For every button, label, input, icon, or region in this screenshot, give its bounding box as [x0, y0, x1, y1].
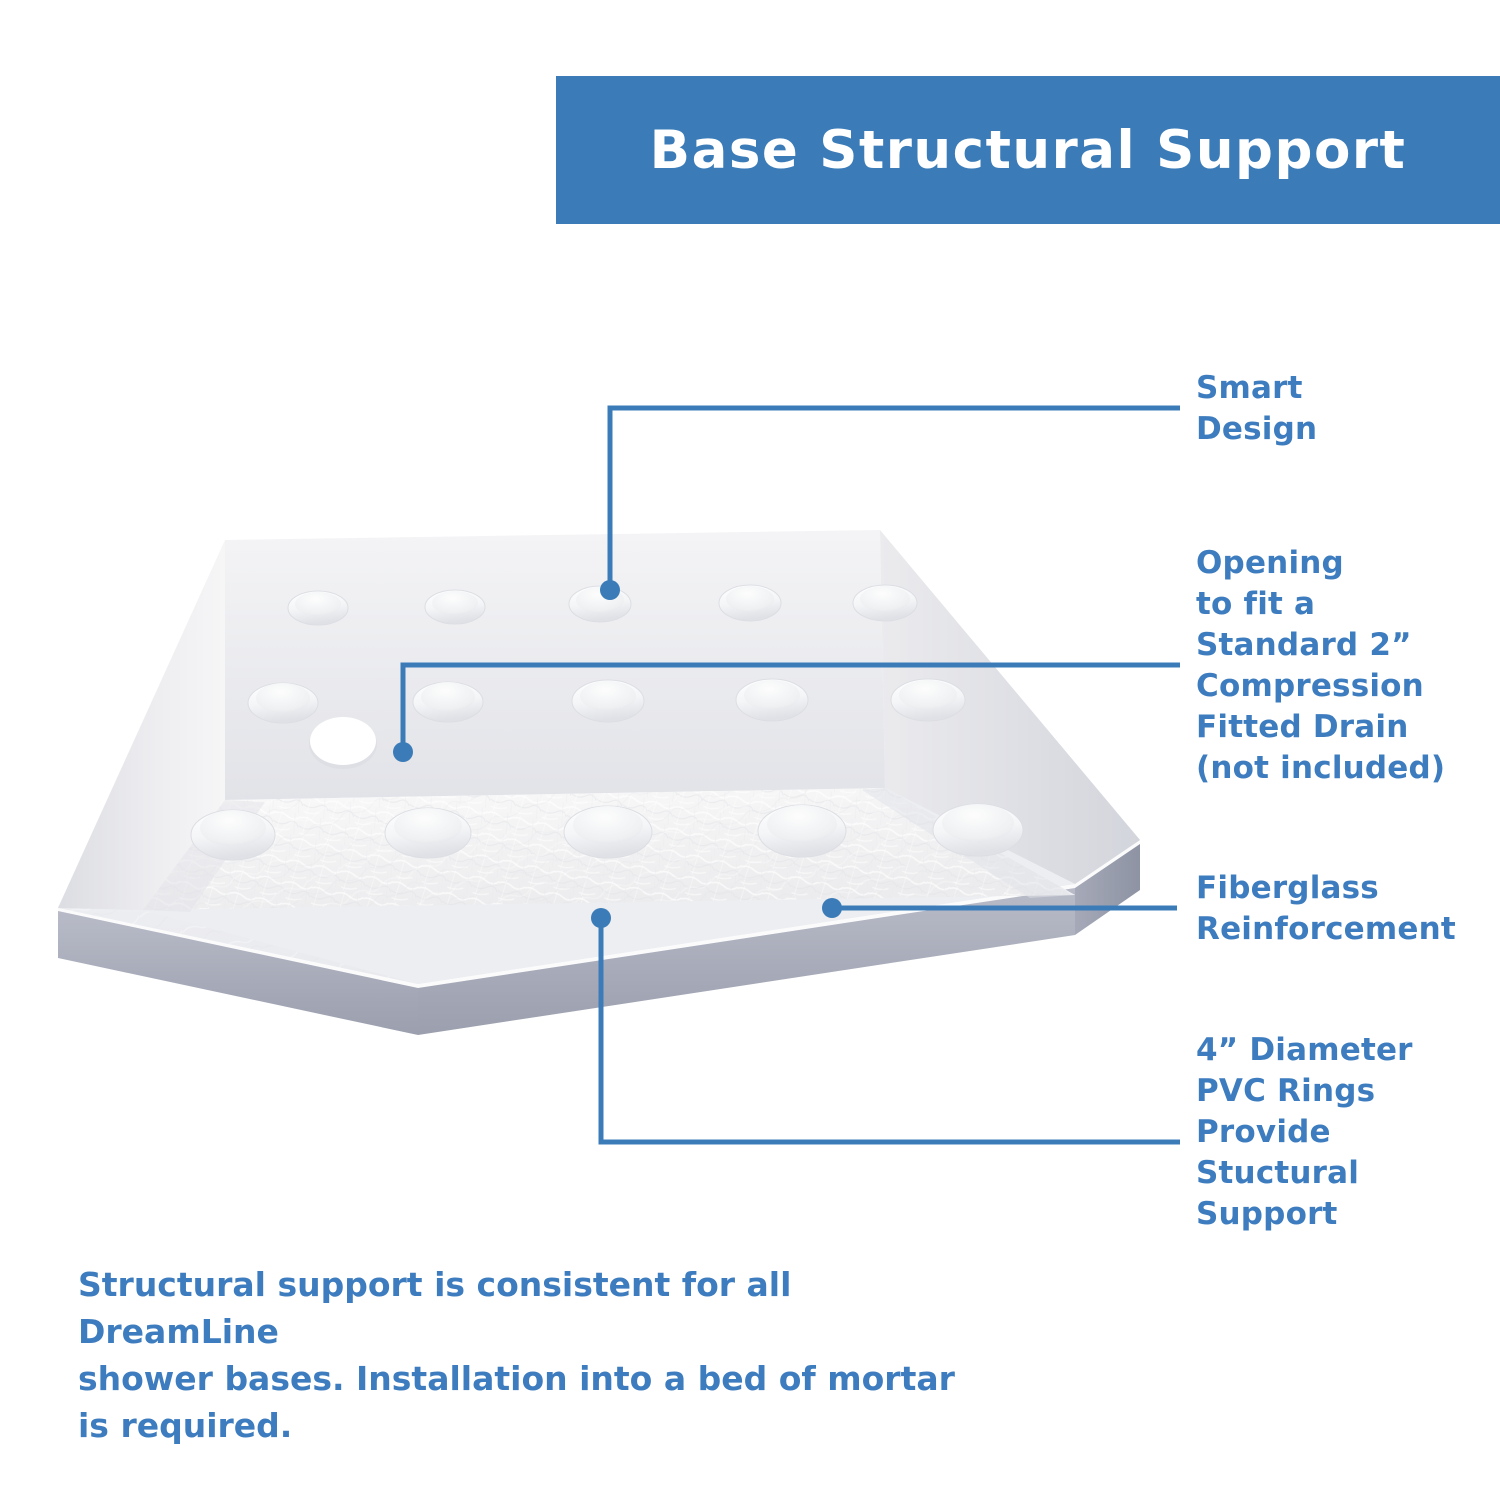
pvc-ring [891, 679, 965, 721]
pvc-ring [569, 586, 631, 622]
pvc-ring [736, 679, 808, 721]
pvc-ring [248, 683, 318, 723]
pvc-ring [853, 585, 917, 621]
infographic-page: Base Structural Support [0, 0, 1500, 1500]
shower-base-body [58, 530, 1140, 1035]
shower-base-illustration [0, 480, 1200, 1040]
footer-note: Structural support is consistent for all… [78, 1262, 998, 1449]
pvc-ring [413, 682, 483, 722]
pvc-ring [425, 590, 485, 624]
page-title: Base Structural Support [650, 124, 1407, 177]
pvc-ring [385, 808, 471, 858]
header-banner: Base Structural Support [556, 76, 1500, 224]
pvc-ring [758, 805, 846, 857]
callout-label-smart-design: Smart Design [1196, 368, 1496, 450]
pvc-ring [719, 585, 781, 621]
pvc-ring [564, 806, 652, 858]
drain-opening [309, 717, 377, 769]
pvc-ring [288, 591, 348, 625]
pvc-ring [933, 804, 1023, 856]
callout-label-fiberglass-reinforcement: Fiberglass Reinforcement [1196, 868, 1496, 950]
pvc-ring [191, 810, 275, 860]
callout-label-drain-opening: Opening to fit a Standard 2” Compression… [1196, 543, 1500, 788]
callout-label-pvc-rings: 4” Diameter PVC Rings Provide Stuctural … [1196, 1030, 1496, 1235]
pvc-ring [572, 680, 644, 722]
